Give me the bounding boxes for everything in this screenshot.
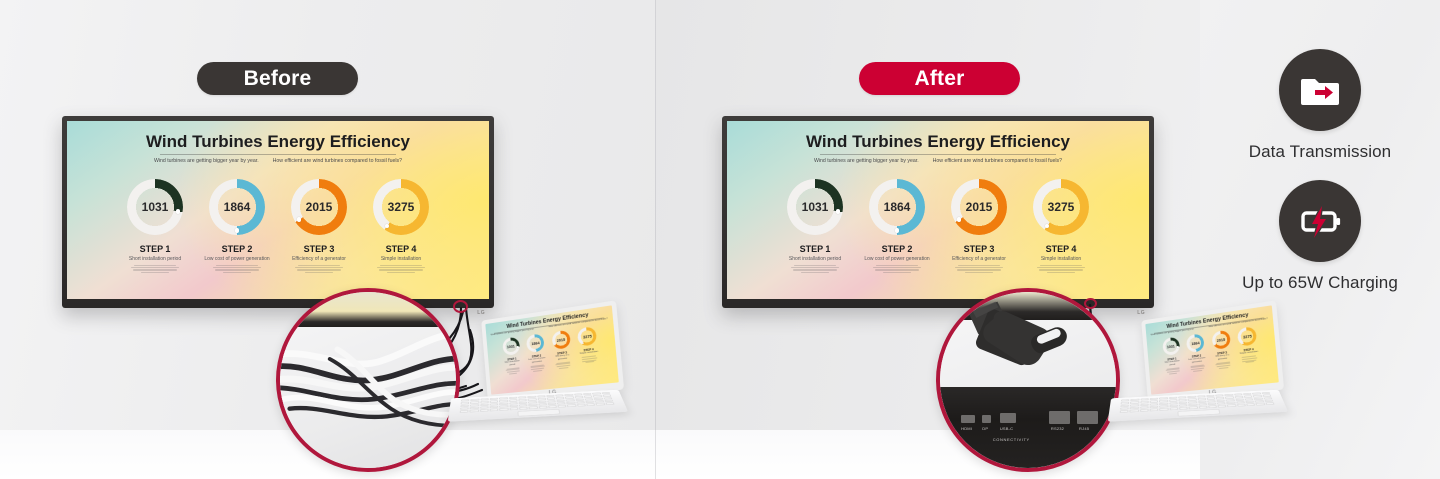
keyboard-key[interactable] [1130, 410, 1139, 413]
step-filler-lines [581, 355, 597, 363]
keyboard-key[interactable] [519, 407, 528, 410]
step-filler-line [509, 373, 518, 375]
donut-value: 3275 [373, 179, 429, 235]
donut-item: 1031STEP 1Short installation period [1160, 337, 1183, 375]
step-filler-line [1219, 367, 1228, 369]
donut-item: 1864STEP 2Low cost of power generation [863, 179, 931, 273]
keyboard-key[interactable] [605, 402, 614, 405]
monitor-after: Wind Turbines Energy EfficiencyWind turb… [722, 116, 1154, 308]
after-badge: After [859, 62, 1020, 95]
donut-endpoint-knob [176, 209, 181, 214]
step-filler-line [295, 267, 342, 268]
keyboard-key[interactable] [1218, 405, 1227, 408]
donut-endpoint-knob [836, 209, 841, 214]
donut-holder: 3275 [1237, 327, 1257, 347]
donut-item: 2015STEP 3Efficiency of a generator [550, 330, 575, 370]
donut-holder: 1031 [1162, 337, 1180, 356]
keyboard-key[interactable] [586, 403, 595, 406]
keyboard-key[interactable] [558, 405, 567, 408]
step-title: STEP 1 [800, 244, 831, 254]
donut-value: 3275 [1237, 327, 1257, 347]
donut-holder: 2015 [1211, 330, 1230, 350]
keyboard-key[interactable] [548, 405, 557, 408]
donut-item: 1864STEP 2Low cost of power generation [1184, 333, 1208, 372]
donut-item: 1864STEP 2Low cost of power generation [524, 333, 548, 372]
step-filler-line [883, 272, 912, 273]
infographic-subtitle: Wind turbines are getting bigger year by… [727, 158, 1149, 164]
step-filler-line [305, 272, 334, 273]
step-filler-line [1169, 373, 1178, 375]
step-title: STEP 4 [386, 244, 417, 254]
step-filler-line [380, 265, 423, 266]
donut-item: 3275STEP 4Simple installation [1236, 326, 1262, 366]
magnifier-after-content: HDMI DP USB-C RS232 RJ45 CONNECTIVITY [940, 292, 1116, 468]
step-filler-line [801, 272, 830, 273]
step-filler-line [957, 269, 1001, 270]
step-description: Short installation period [129, 256, 181, 262]
step-filler-line [131, 267, 178, 268]
magnifier-before-content [280, 292, 456, 468]
port-label: DP [982, 426, 988, 431]
before-badge: Before [197, 62, 358, 95]
donut-value: 2015 [291, 179, 347, 235]
step-filler-line [1040, 265, 1083, 266]
magnifier-after: HDMI DP USB-C RS232 RJ45 CONNECTIVITY [936, 288, 1120, 472]
laptop-after-trackpad[interactable] [1177, 409, 1221, 417]
data-transmission-icon-circle [1279, 49, 1361, 131]
port-label: HDMI [961, 426, 972, 431]
step-filler-line [298, 265, 341, 266]
donut-holder: 1864 [869, 179, 925, 235]
data-transmission-label: Data Transmission [1200, 142, 1440, 162]
port-label: RJ45 [1079, 426, 1089, 431]
donut-value: 2015 [1211, 330, 1230, 350]
step-filler-lines [1166, 367, 1181, 375]
step-filler-line [793, 269, 837, 270]
infographic-subtitle-right: How efficient are wind turbines compared… [273, 158, 402, 164]
step-filler-line [377, 267, 424, 268]
step-title: STEP 2 [882, 244, 913, 254]
donut-holder: 3275 [373, 179, 429, 235]
step-filler-line [297, 269, 341, 270]
comparison-scene: Before After Wind Turbines Energy Effici… [0, 0, 1440, 479]
donut-item: 2015STEP 3Efficiency of a generator [1210, 330, 1235, 370]
step-filler-lines [1037, 265, 1084, 272]
feature-charging: Up to 65W Charging [1200, 180, 1440, 293]
keyboard-key[interactable] [509, 408, 518, 411]
step-description: Simple installation [1041, 256, 1081, 262]
keyboard-key[interactable] [1150, 409, 1159, 412]
port-slot [961, 415, 975, 424]
step-filler-line [958, 265, 1001, 266]
step-filler-lines [873, 265, 920, 272]
step-filler-line [141, 272, 170, 273]
donut-item: 3275STEP 4Simple installation [1027, 179, 1095, 273]
keyboard-key[interactable] [1265, 402, 1274, 405]
step-title: STEP 3 [964, 244, 995, 254]
donut-chart-row: 1031STEP 1Short installation period1864S… [67, 179, 489, 273]
step-title: STEP 3 [304, 244, 335, 254]
monitor-before-bezel: Wind Turbines Energy EfficiencyWind turb… [62, 116, 494, 308]
donut-item: 2015STEP 3Efficiency of a generator [285, 179, 353, 273]
donut-value: 1031 [787, 179, 843, 235]
donut-holder: 1031 [787, 179, 843, 235]
donut-endpoint-knob [895, 228, 900, 233]
laptop-infographic-after: Wind Turbines Energy EfficiencyWind turb… [1145, 305, 1279, 394]
donut-item: 3275STEP 4Simple installation [576, 326, 602, 366]
donut-chart-row: 1031STEP 1Short installation period1864S… [727, 179, 1149, 273]
laptop-before-trackpad[interactable] [517, 409, 561, 417]
port-label: USB-C [1000, 426, 1013, 431]
donut-value: 1864 [869, 179, 925, 235]
step-filler-line [387, 272, 416, 273]
monitor-before-logo: LG [477, 310, 485, 316]
laptop-after: Wind Turbines Energy EfficiencyWind turb… [1112, 320, 1282, 435]
step-filler-line [533, 370, 542, 372]
step-filler-line [134, 265, 177, 266]
donut-value: 3275 [1033, 179, 1089, 235]
keyboard-key[interactable] [1189, 406, 1198, 409]
donut-item: 1864STEP 2Low cost of power generation [203, 179, 271, 273]
donut-endpoint-knob [235, 228, 240, 233]
step-title: STEP 2 [222, 244, 253, 254]
folder-arrow-icon [1296, 66, 1344, 114]
step-filler-line [1193, 370, 1202, 372]
port-label: RS232 [1051, 426, 1064, 431]
step-filler-line [794, 265, 837, 266]
before-badge-label: Before [244, 67, 312, 91]
step-filler-line [585, 361, 595, 363]
infographic-subtitle-right: How efficient are wind turbines compared… [933, 158, 1062, 164]
step-filler-lines [295, 265, 342, 272]
step-filler-line [873, 267, 920, 268]
donut-holder: 3275 [1033, 179, 1089, 235]
monitor-before: Wind Turbines Energy EfficiencyWind turb… [62, 116, 494, 308]
step-filler-lines [377, 265, 424, 272]
keyboard-key[interactable] [499, 408, 508, 411]
donut-holder: 1031 [127, 179, 183, 235]
step-filler-line [876, 265, 919, 266]
step-filler-line [875, 269, 919, 270]
step-filler-line [1047, 272, 1076, 273]
keyboard-key[interactable] [1140, 409, 1149, 412]
step-description: Efficiency of a generator [952, 256, 1006, 262]
magnifier-before [276, 288, 460, 472]
tangled-cables-zoom [280, 292, 456, 468]
keyboard-key[interactable] [1256, 403, 1265, 406]
step-filler-line [1245, 361, 1255, 363]
panel-divider [655, 0, 656, 479]
donut-item: 1031STEP 1Short installation period [500, 337, 523, 375]
monitor-before-screen: Wind Turbines Energy EfficiencyWind turb… [67, 121, 489, 299]
laptop-before-screen: Wind Turbines Energy EfficiencyWind turb… [485, 305, 619, 394]
keyboard-key[interactable] [529, 406, 538, 409]
keyboard-key[interactable] [490, 409, 499, 412]
after-badge-label: After [914, 67, 964, 91]
step-filler-line [1039, 269, 1083, 270]
infographic-after: Wind Turbines Energy EfficiencyWind turb… [727, 121, 1149, 299]
feature-data-transmission: Data Transmission [1200, 49, 1440, 162]
laptop-after-base [1108, 390, 1288, 422]
step-filler-lines [506, 367, 521, 375]
infographic-subtitle: Wind turbines are getting bigger year by… [67, 158, 489, 164]
step-filler-lines [555, 361, 571, 369]
battery-bolt-icon [1296, 197, 1344, 245]
keyboard-key[interactable] [596, 403, 605, 406]
keyboard-key[interactable] [577, 404, 586, 407]
infographic-rule [160, 154, 396, 155]
donut-value: 2015 [551, 330, 570, 350]
keyboard-key[interactable] [1237, 404, 1246, 407]
step-filler-line [965, 272, 994, 273]
donut-holder: 2015 [291, 179, 347, 235]
donut-endpoint-knob [517, 346, 518, 348]
keyboard-key[interactable] [538, 406, 547, 409]
step-filler-line [223, 272, 252, 273]
step-filler-lines [1190, 364, 1205, 372]
donut-endpoint-knob [1177, 346, 1178, 348]
donut-value: 2015 [951, 179, 1007, 235]
donut-holder: 2015 [951, 179, 1007, 235]
donut-item: 1031STEP 1Short installation period [121, 179, 189, 273]
donut-holder: 1031 [502, 337, 520, 356]
keyboard-key[interactable] [1227, 404, 1236, 407]
port-slot [1077, 411, 1098, 424]
port-slot [1000, 413, 1016, 424]
infographic-rule [820, 154, 1056, 155]
step-filler-line [133, 269, 177, 270]
laptop-after-screen: Wind Turbines Energy EfficiencyWind turb… [1145, 305, 1279, 394]
donut-holder: 3275 [577, 327, 597, 347]
infographic-subtitle-left: Wind turbines are getting bigger year by… [154, 158, 259, 164]
step-filler-lines [530, 364, 545, 372]
step-filler-line [216, 265, 259, 266]
step-filler-lines [1215, 361, 1231, 369]
step-filler-line [791, 267, 838, 268]
step-filler-line [213, 267, 260, 268]
keyboard-key[interactable] [1246, 403, 1255, 406]
step-description: Efficiency of a generator [292, 256, 346, 262]
monitor-port-strip: HDMI DP USB-C RS232 RJ45 CONNECTIVITY [940, 387, 1116, 468]
keyboard-key[interactable] [1179, 407, 1188, 410]
step-description: Simple installation [381, 256, 421, 262]
charging-label: Up to 65W Charging [1200, 273, 1440, 293]
keyboard-key[interactable] [1208, 405, 1217, 408]
step-title: STEP 1 [140, 244, 171, 254]
infographic-title: Wind Turbines Energy Efficiency [727, 132, 1149, 152]
step-filler-line [955, 267, 1002, 268]
step-filler-line [559, 367, 568, 369]
laptop-before-base [448, 390, 628, 422]
step-filler-lines [1241, 355, 1257, 363]
keyboard-key[interactable] [480, 409, 489, 412]
charging-icon-circle [1279, 180, 1361, 262]
port-slot [982, 415, 991, 423]
step-description: Low cost of power generation [204, 256, 269, 262]
laptop-before: Wind Turbines Energy EfficiencyWind turb… [452, 320, 622, 435]
step-filler-lines [213, 265, 260, 272]
keyboard-key[interactable] [1198, 406, 1207, 409]
step-description: Short installation period [789, 256, 841, 262]
port-slot [1049, 411, 1070, 424]
port-group-label: CONNECTIVITY [993, 437, 1030, 442]
keyboard-key[interactable] [1159, 408, 1168, 411]
infographic-title: Wind Turbines Energy Efficiency [67, 132, 489, 152]
donut-value: 3275 [577, 327, 597, 347]
donut-item: 1031STEP 1Short installation period [781, 179, 849, 273]
keyboard-key[interactable] [470, 410, 479, 413]
infographic-subtitle-left: Wind turbines are getting bigger year by… [814, 158, 919, 164]
step-filler-lines [131, 265, 178, 272]
step-title: STEP 4 [1046, 244, 1077, 254]
donut-value: 1031 [127, 179, 183, 235]
step-filler-lines [955, 265, 1002, 272]
step-filler-line [215, 269, 259, 270]
keyboard-key[interactable] [460, 410, 469, 413]
donut-holder: 1864 [209, 179, 265, 235]
step-description: Low cost of power generation [864, 256, 929, 262]
donut-value: 1864 [209, 179, 265, 235]
step-filler-lines [791, 265, 838, 272]
monitor-after-logo: LG [1137, 310, 1145, 316]
donut-item: 3275STEP 4Simple installation [367, 179, 435, 273]
monitor-after-bezel: Wind Turbines Energy EfficiencyWind turb… [722, 116, 1154, 308]
laptop-infographic-before: Wind Turbines Energy EfficiencyWind turb… [485, 305, 619, 394]
keyboard-key[interactable] [567, 404, 576, 407]
keyboard-key[interactable] [1169, 408, 1178, 411]
keyboard-key[interactable] [1120, 410, 1129, 413]
infographic-before: Wind Turbines Energy EfficiencyWind turb… [67, 121, 489, 299]
step-filler-line [1037, 267, 1084, 268]
donut-holder: 1864 [526, 334, 545, 353]
monitor-after-screen: Wind Turbines Energy EfficiencyWind turb… [727, 121, 1149, 299]
donut-holder: 1864 [1186, 334, 1205, 353]
donut-holder: 2015 [551, 330, 570, 350]
donut-item: 2015STEP 3Efficiency of a generator [945, 179, 1013, 273]
step-filler-line [379, 269, 423, 270]
